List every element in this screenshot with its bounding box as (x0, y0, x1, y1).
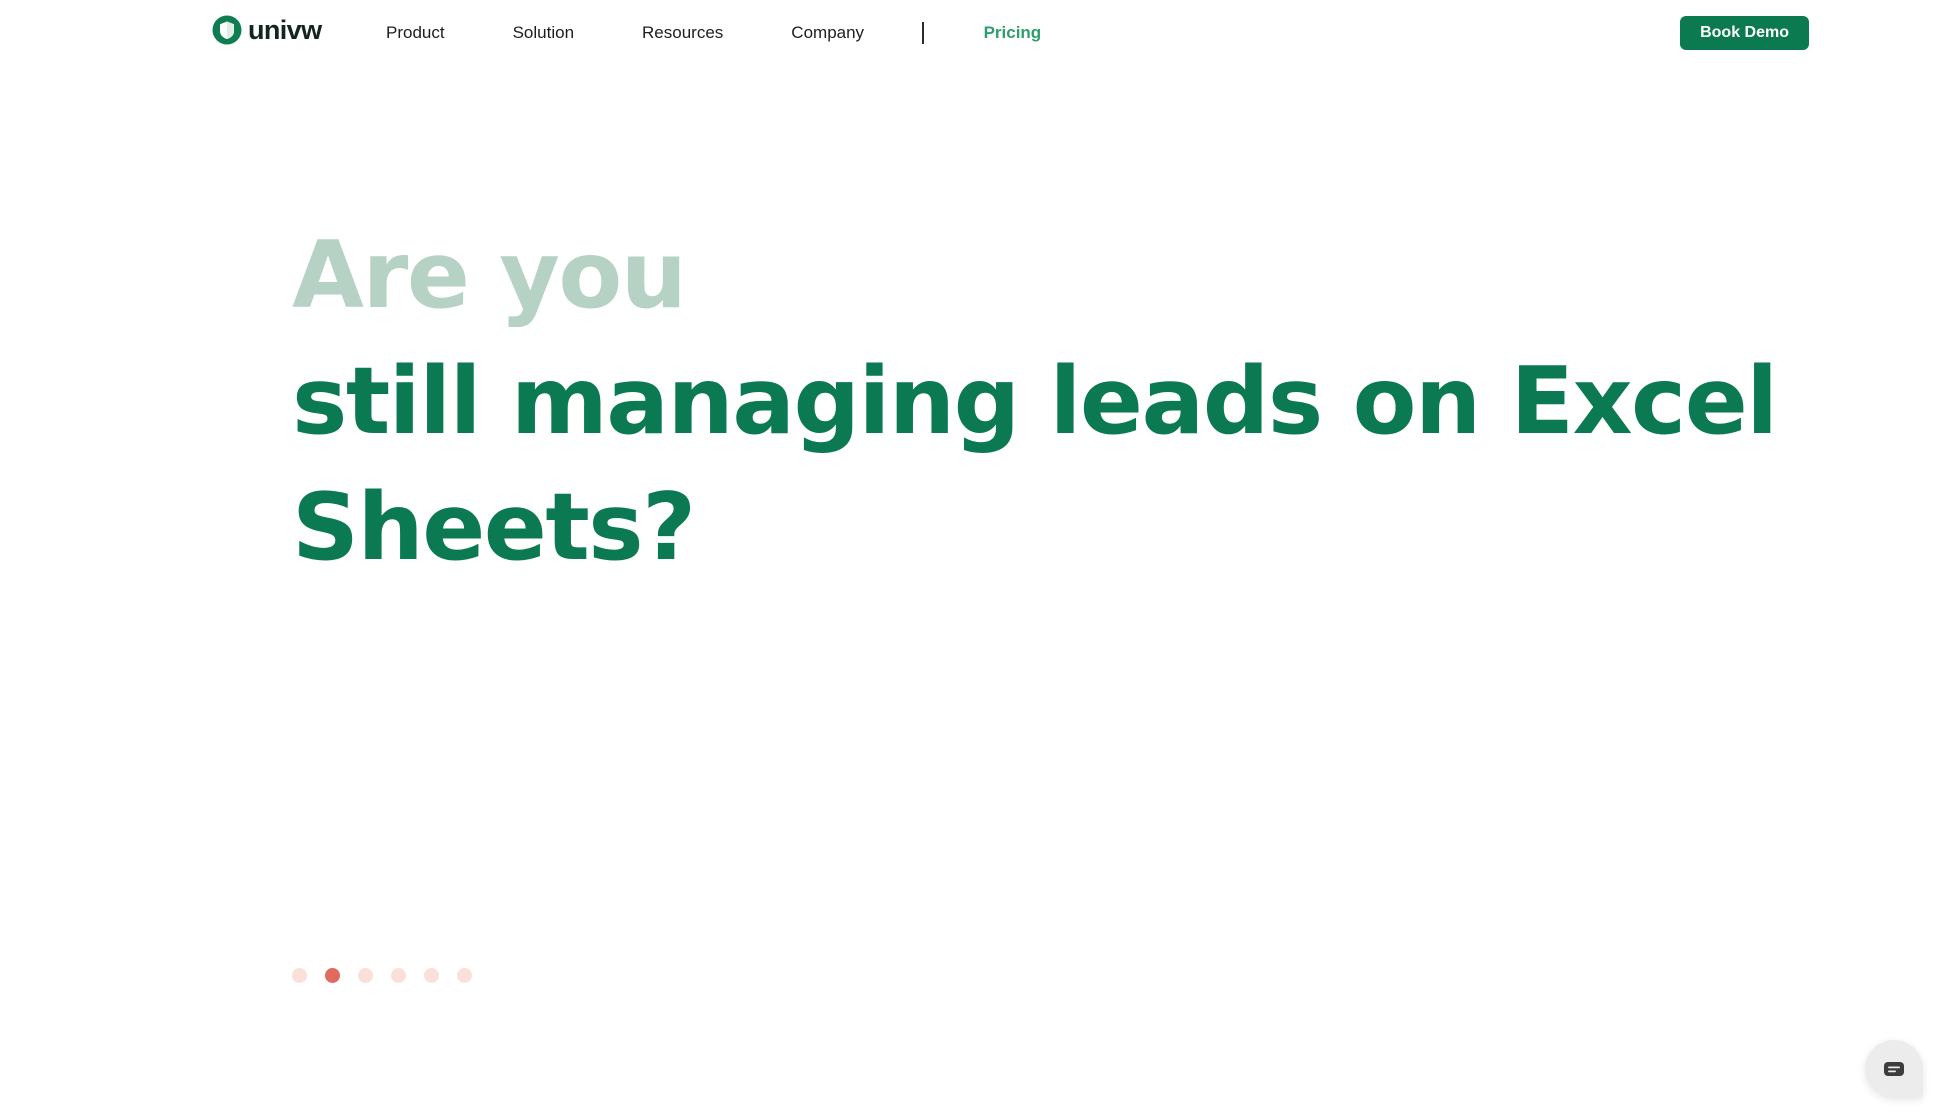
carousel-dots (292, 968, 472, 983)
carousel-dot-6[interactable] (457, 968, 472, 983)
chat-widget-button[interactable] (1865, 1040, 1923, 1098)
chat-bubble-icon (1881, 1056, 1907, 1082)
hero-heading: Are you still managing leads on Excel Sh… (292, 212, 1692, 590)
hero-line-3: Sheets? (292, 464, 1692, 590)
nav-item-company[interactable]: Company (791, 22, 864, 44)
nav-item-resources[interactable]: Resources (642, 22, 723, 44)
landing-page: univw Product Solution Resources Company… (0, 0, 1945, 1120)
carousel-dot-5[interactable] (424, 968, 439, 983)
nav-divider (922, 22, 924, 44)
nav-item-pricing[interactable]: Pricing (984, 22, 1042, 44)
hero-line-2: still managing leads on Excel (292, 338, 1692, 464)
carousel-dot-3[interactable] (358, 968, 373, 983)
carousel-dot-1[interactable] (292, 968, 307, 983)
nav-item-product[interactable]: Product (386, 22, 445, 44)
hero-line-1: Are you (292, 212, 1692, 338)
carousel-dot-2[interactable] (325, 968, 340, 983)
nav-item-solution[interactable]: Solution (513, 22, 574, 44)
shield-logo-icon (212, 15, 242, 45)
book-demo-button[interactable]: Book Demo (1680, 16, 1809, 50)
carousel-dot-4[interactable] (391, 968, 406, 983)
logo[interactable]: univw (212, 12, 322, 48)
main-nav: Product Solution Resources Company Prici… (386, 22, 1041, 44)
site-header: univw Product Solution Resources Company… (0, 0, 1945, 72)
logo-wordmark: univw (248, 15, 322, 45)
